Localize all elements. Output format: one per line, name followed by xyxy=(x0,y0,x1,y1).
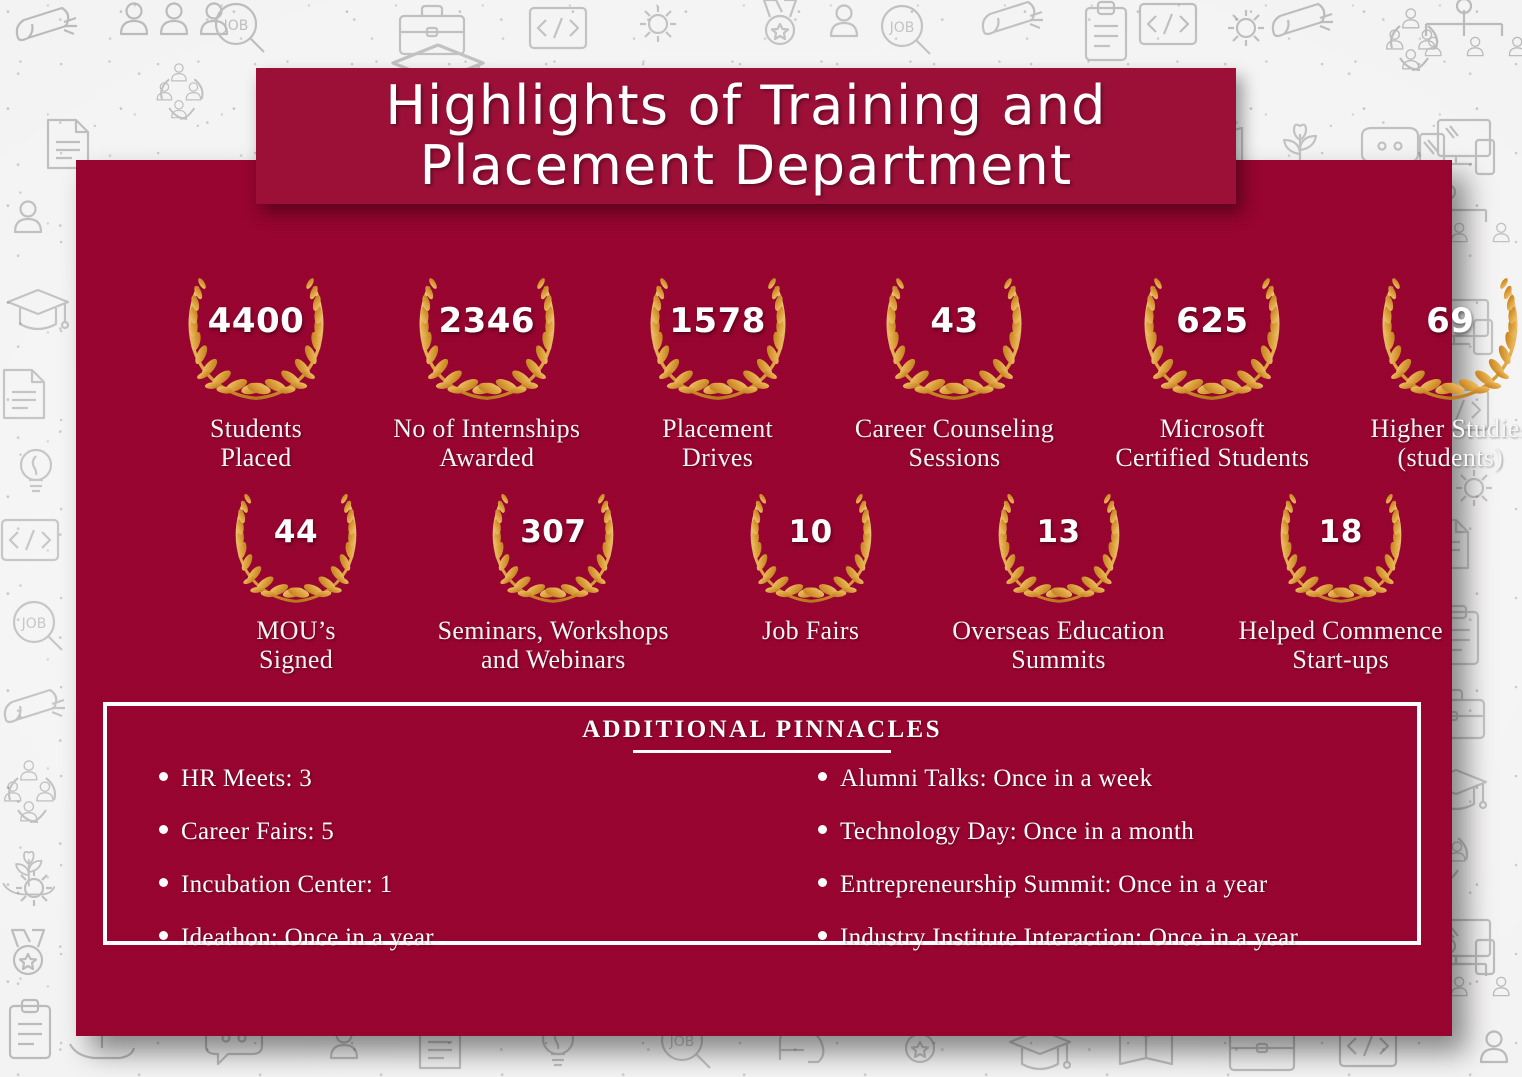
page-title-line-1: Highlights of Training and xyxy=(385,76,1106,136)
list-item-label: Industry Institute Interaction: Once in … xyxy=(840,924,1298,952)
stat-internships-awarded: 2346 No of Internships Awarded xyxy=(393,276,580,472)
bullet-icon xyxy=(818,772,827,781)
stat-value: 69 xyxy=(1374,301,1522,341)
stat-students-placed: 4400 Students Placed xyxy=(180,276,332,472)
list-item: Alumni Talks: Once in a week xyxy=(818,765,1365,793)
laurel-wreath-icon: 43 xyxy=(878,276,1030,408)
list-item-label: Entrepreneurship Summit: Once in a year xyxy=(840,871,1268,899)
laurel-wreath-icon: 307 xyxy=(485,492,621,610)
list-item: Incubation Center: 1 xyxy=(159,871,762,899)
bullet-icon xyxy=(159,772,168,781)
laurel-wreath-icon: 44 xyxy=(228,492,364,610)
laurel-wreath-icon: 625 xyxy=(1136,276,1288,408)
laurel-wreath-icon: 18 xyxy=(1273,492,1409,610)
list-item: Career Fairs: 5 xyxy=(159,818,762,846)
stat-label: No of Internships Awarded xyxy=(393,414,580,472)
stat-career-counseling-sessions: 43 Career Counseling Sessions xyxy=(855,276,1054,472)
pinnacles-left-column: HR Meets: 3 Career Fairs: 5 Incubation C… xyxy=(159,765,762,977)
page-title-line-2: Placement Department xyxy=(420,136,1073,196)
stat-seminars-workshops-webinars: 307 Seminars, Workshops and Webinars xyxy=(438,492,669,674)
pinnacles-right-column: Alumni Talks: Once in a week Technology … xyxy=(762,765,1365,977)
list-item-label: Incubation Center: 1 xyxy=(181,871,393,899)
laurel-wreath-icon: 10 xyxy=(743,492,879,610)
list-item: Technology Day: Once in a month xyxy=(818,818,1365,846)
list-item: Industry Institute Interaction: Once in … xyxy=(818,924,1365,952)
pinnacles-heading: ADDITIONAL PINNACLES xyxy=(107,716,1417,748)
bullet-icon xyxy=(818,931,827,940)
stat-value: 18 xyxy=(1273,514,1409,550)
list-item-label: HR Meets: 3 xyxy=(181,765,312,793)
pinnacles-heading-underline xyxy=(633,750,891,753)
stat-value: 625 xyxy=(1136,301,1288,341)
infographic-page: JOB xyxy=(0,0,1522,1077)
stat-value: 307 xyxy=(485,514,621,550)
stat-label: Microsoft Certified Students xyxy=(1115,414,1309,472)
stat-overseas-education-summits: 13 Overseas Education Summits xyxy=(952,492,1165,674)
list-item-label: Career Fairs: 5 xyxy=(181,818,334,846)
laurel-wreath-icon: 4400 xyxy=(180,276,332,408)
stat-label: MOU’s Signed xyxy=(256,616,336,674)
stat-label: Seminars, Workshops and Webinars xyxy=(438,616,669,674)
stats-row-1: 4400 Students Placed 2346 No of Internsh… xyxy=(180,276,1522,472)
additional-pinnacles-box: ADDITIONAL PINNACLES HR Meets: 3 Career … xyxy=(103,702,1421,945)
list-item-label: Alumni Talks: Once in a week xyxy=(840,765,1152,793)
stat-value: 10 xyxy=(743,514,879,550)
stat-value: 4400 xyxy=(180,301,332,341)
stat-placement-drives: 1578 Placement Drives xyxy=(642,276,794,472)
stats-row-2: 44 MOU’s Signed 307 Seminars, Workshops … xyxy=(228,492,1443,674)
stat-label: Overseas Education Summits xyxy=(952,616,1165,674)
stat-value: 13 xyxy=(991,514,1127,550)
laurel-wreath-icon: 69 xyxy=(1374,276,1522,408)
stat-higher-studies: 69 Higher Studies (students) xyxy=(1371,276,1522,472)
laurel-wreath-icon: 13 xyxy=(991,492,1127,610)
bullet-icon xyxy=(818,825,827,834)
stat-helped-commence-startups: 18 Helped Commence Start-ups xyxy=(1238,492,1443,674)
bullet-icon xyxy=(159,878,168,887)
list-item: HR Meets: 3 xyxy=(159,765,762,793)
bullet-icon xyxy=(159,825,168,834)
laurel-wreath-icon: 1578 xyxy=(642,276,794,408)
stat-label: Career Counseling Sessions xyxy=(855,414,1054,472)
list-item-label: Technology Day: Once in a month xyxy=(840,818,1194,846)
pinnacles-columns: HR Meets: 3 Career Fairs: 5 Incubation C… xyxy=(107,765,1417,977)
stat-mous-signed: 44 MOU’s Signed xyxy=(228,492,364,674)
stat-label: Helped Commence Start-ups xyxy=(1238,616,1443,674)
title-banner: Highlights of Training and Placement Dep… xyxy=(256,68,1236,204)
stat-label: Students Placed xyxy=(210,414,302,472)
list-item-label: Ideathon: Once in a year xyxy=(181,924,434,952)
stat-label: Placement Drives xyxy=(662,414,773,472)
list-item: Ideathon: Once in a year xyxy=(159,924,762,952)
stat-value: 44 xyxy=(228,514,364,550)
stat-label: Job Fairs xyxy=(762,616,859,645)
stat-label: Higher Studies (students) xyxy=(1371,414,1522,472)
laurel-wreath-icon: 2346 xyxy=(411,276,563,408)
stat-job-fairs: 10 Job Fairs xyxy=(743,492,879,645)
bullet-icon xyxy=(818,878,827,887)
main-content-panel: 4400 Students Placed 2346 No of Internsh… xyxy=(76,160,1452,1036)
stat-microsoft-certified-students: 625 Microsoft Certified Students xyxy=(1115,276,1309,472)
bullet-icon xyxy=(159,931,168,940)
list-item: Entrepreneurship Summit: Once in a year xyxy=(818,871,1365,899)
stat-value: 1578 xyxy=(642,301,794,341)
stat-value: 43 xyxy=(878,301,1030,341)
stat-value: 2346 xyxy=(411,301,563,341)
